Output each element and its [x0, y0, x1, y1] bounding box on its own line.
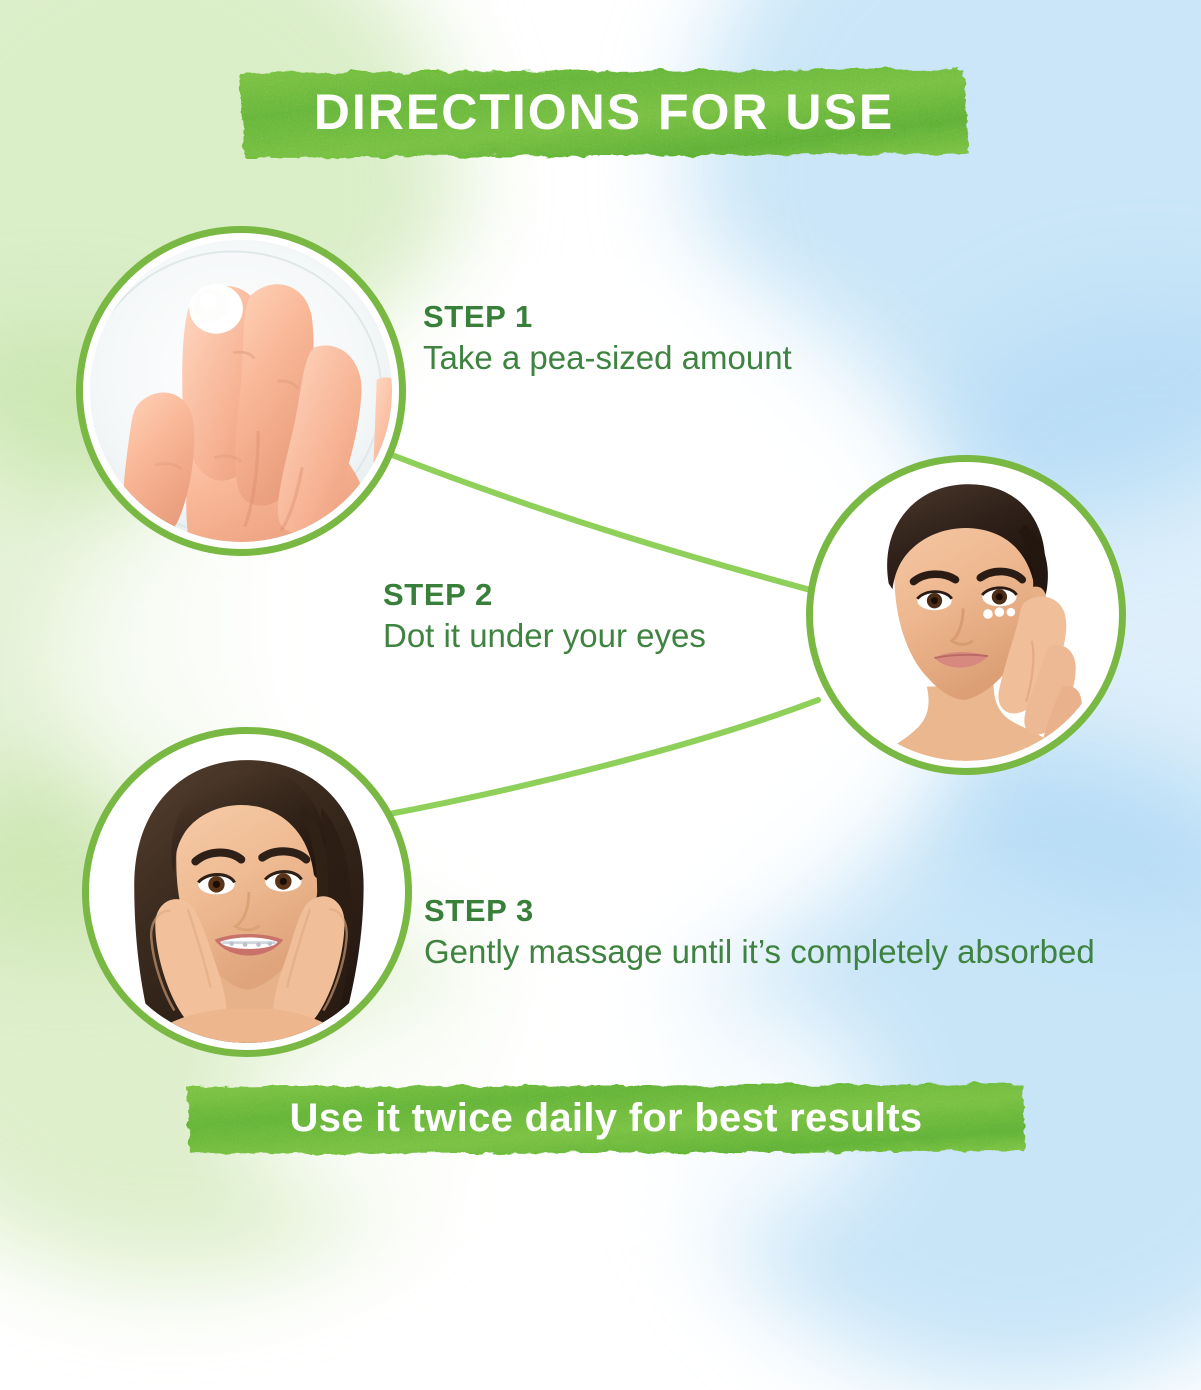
step-1-text: STEP 1 Take a pea-sized amount	[423, 300, 792, 377]
step-1-title: STEP 1	[423, 300, 792, 334]
step-3-description: Gently massage until it’s completely abs…	[424, 933, 1095, 971]
step-1-image-circle	[76, 226, 406, 556]
step-2-image-circle	[806, 455, 1126, 775]
footer-banner: Use it twice daily for best results	[183, 1080, 1029, 1156]
connector-step1-to-step2	[392, 455, 818, 592]
header-title: DIRECTIONS FOR USE	[314, 83, 894, 141]
step-1-description: Take a pea-sized amount	[423, 339, 792, 377]
woman-massaging-face-with-both-hands-icon	[96, 741, 398, 1043]
connector-step2-to-step3	[368, 700, 818, 818]
header-banner: DIRECTIONS FOR USE	[236, 64, 972, 160]
step-2-text: STEP 2 Dot it under your eyes	[383, 578, 706, 655]
step-3-text: STEP 3 Gently massage until it’s complet…	[424, 894, 1095, 971]
step-2-description: Dot it under your eyes	[383, 617, 706, 655]
step-2-title: STEP 2	[383, 578, 706, 612]
hand-with-cream-dot-on-fingertip-icon	[90, 240, 392, 542]
footer-title: Use it twice daily for best results	[290, 1096, 923, 1141]
woman-dotting-cream-under-eye-icon	[820, 469, 1112, 761]
step-3-title: STEP 3	[424, 894, 1095, 928]
step-3-image-circle	[82, 727, 412, 1057]
